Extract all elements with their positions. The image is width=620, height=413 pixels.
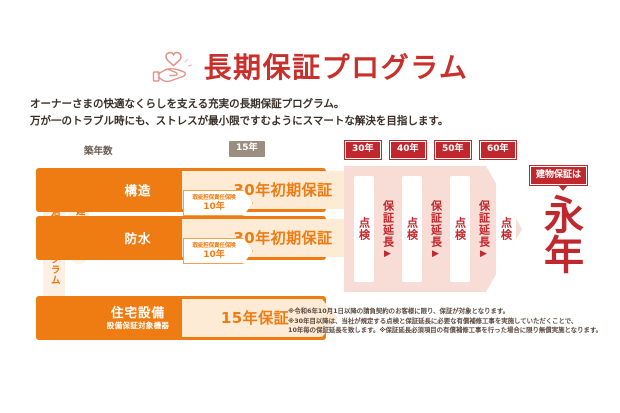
disclaimer-line-3: 10年毎の保証延長を致します。※保証延長必須項目の有償補修工事を行った場合に限り…: [288, 326, 598, 336]
insurance-tag-title: 瑕疵担保責任保険: [192, 194, 235, 202]
extension-arrow-block: 点検 保証延長 ▶ 点検 保証延長 ▶ 点検 保証延長 ▶ 点検: [344, 166, 522, 292]
page-title: 長期保証プログラム: [204, 54, 469, 82]
subtitle-block: オーナーさまの快適なくらしを支える充実の長期保証プログラム。 万が一のトラブル時…: [30, 96, 430, 130]
extension-label: 保証延長: [431, 200, 442, 248]
infographic-page: 長期保証プログラム オーナーさまの快適なくらしを支える充実の長期保証プログラム。…: [0, 0, 620, 413]
badge-pointer-icon: [558, 185, 568, 191]
timeline-axis: 築年数 15年 30年 40年 50年 60年: [0, 141, 620, 161]
inspection-label: 点検: [359, 217, 370, 241]
insurance-tag-years: 10年: [203, 202, 225, 212]
row-category-structure: 構造: [94, 168, 182, 212]
extension-label-wrap: 保証延長 ▶: [383, 200, 394, 259]
row-category-sublabel: 設備保証対象機器: [107, 321, 169, 331]
guarantee-label: 30年初期保証: [233, 231, 332, 246]
inspection-column-1: 点検: [354, 176, 374, 282]
insurance-tag-years: 10年: [203, 250, 225, 260]
inspection-label: 点検: [455, 217, 466, 241]
subtitle-line-2: 万が一のトラブル時にも、ストレスが最小限ですむようにスマートな解決を目指します。: [30, 113, 430, 130]
axis-label-building-age: 築年数: [84, 143, 113, 157]
milestone-badge-50: 50年: [435, 141, 471, 159]
inspection-label: 点検: [407, 217, 418, 241]
inspection-column-3: 点検: [450, 176, 470, 282]
extension-label: 保証延長: [479, 200, 490, 248]
extension-column-3: 保証延長 ▶: [474, 176, 494, 282]
page-header: 長期保証プログラム: [0, 42, 620, 94]
row-category-label: 防水: [124, 231, 151, 246]
extension-column-1: 保証延長 ▶: [378, 176, 398, 282]
caret-right-icon: ▶: [384, 250, 392, 259]
inspection-column-2: 点検: [402, 176, 422, 282]
extension-label-wrap: 保証延長 ▶: [431, 200, 442, 259]
eternal-guarantee-panel: 建物保証は 永年: [524, 166, 600, 294]
inspection-label: 点検: [501, 217, 512, 241]
milestone-badge-40: 40年: [390, 141, 426, 159]
disclaimer-line-1: ※令和6年10月1日以降の請負契約のお客様に限り、保証が対象となります。: [288, 307, 598, 317]
eternal-badge: 建物保証は: [530, 166, 587, 185]
extension-column-2: 保証延長 ▶: [426, 176, 446, 282]
extension-label: 保証延長: [383, 200, 394, 248]
guarantee-label: 15年保証: [221, 311, 289, 326]
insurance-tag-waterproof: 瑕疵担保責任保険 10年: [183, 238, 253, 264]
guarantee-label: 30年初期保証: [233, 183, 332, 198]
disclaimer-block: ※令和6年10月1日以降の請負契約のお客様に限り、保証が対象となります。 ※30…: [288, 307, 598, 336]
disclaimer-line-2: ※30年目以降は、当社が規定する点検と保証延長に必要な有償補修工事を実施していた…: [288, 317, 598, 327]
eternal-value: 永年: [538, 194, 582, 274]
insurance-tag-structure: 瑕疵担保責任保険 10年: [183, 190, 253, 216]
row-category-label: 住宅設備: [111, 305, 165, 320]
inspection-column-4: 点検: [496, 176, 516, 282]
caret-right-icon: ▶: [432, 250, 440, 259]
milestone-badge-15: 15年: [229, 141, 265, 157]
row-category-equipment: 住宅設備 設備保証対象機器: [94, 296, 182, 340]
milestone-badge-30: 30年: [345, 141, 381, 159]
row-category-label: 構造: [124, 183, 151, 198]
row-category-waterproof: 防水: [94, 216, 182, 260]
hand-holding-heart-icon: [152, 48, 194, 88]
insurance-tag-title: 瑕疵担保責任保険: [192, 242, 235, 250]
subtitle-line-1: オーナーさまの快適なくらしを支える充実の長期保証プログラム。: [30, 96, 430, 113]
milestone-badge-60: 60年: [480, 141, 516, 159]
caret-right-icon: ▶: [480, 250, 488, 259]
extension-label-wrap: 保証延長 ▶: [479, 200, 490, 259]
